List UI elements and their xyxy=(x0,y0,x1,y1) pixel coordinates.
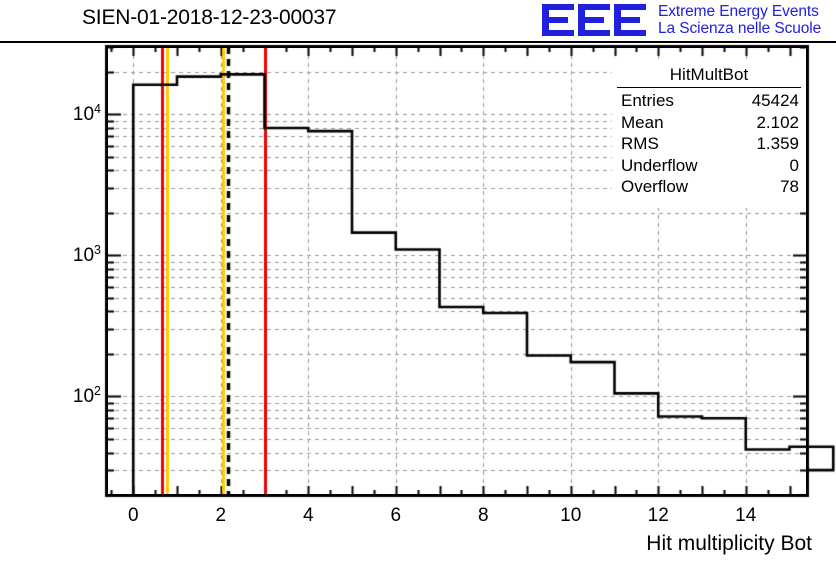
stats-box-title: HitMultBot xyxy=(613,63,805,86)
page-title: SIEN-01-2018-12-23-00037 xyxy=(82,6,336,30)
eee-logo-line2: La Scienza nelle Scuole xyxy=(658,20,821,37)
x-axis-tick-label: 10 xyxy=(560,505,581,527)
x-axis-title: Hit multiplicity Bot xyxy=(646,532,812,556)
x-axis-tick-label: 4 xyxy=(303,505,314,527)
stats-row: Underflow0 xyxy=(613,155,805,177)
stats-row-key: Underflow xyxy=(621,155,698,177)
eee-logo-line1: Extreme Energy Events xyxy=(658,3,821,20)
stats-row-value: 1.359 xyxy=(756,133,799,155)
y-axis-tick-label: 102 xyxy=(73,384,101,408)
x-axis-tick-label: 2 xyxy=(215,505,226,527)
header-divider xyxy=(0,41,836,43)
stats-row-value: 45424 xyxy=(752,90,799,112)
stats-box-rows: Entries45424Mean2.102RMS1.359Underflow0O… xyxy=(613,90,805,198)
stats-row-value: 2.102 xyxy=(756,112,799,134)
x-axis-tick-label: 14 xyxy=(735,505,756,527)
stats-row-key: Mean xyxy=(621,112,664,134)
stats-box: HitMultBot Entries45424Mean2.102RMS1.359… xyxy=(612,62,806,208)
y-axis-tick-label: 104 xyxy=(73,102,101,126)
stats-row-key: Entries xyxy=(621,90,674,112)
stats-row: Mean2.102 xyxy=(613,112,805,134)
x-axis-tick-label: 6 xyxy=(390,505,401,527)
y-axis-tick-label: 103 xyxy=(73,243,101,267)
stats-row: Overflow78 xyxy=(613,176,805,198)
x-axis-tick-label: 8 xyxy=(478,505,489,527)
x-axis-tick-label: 0 xyxy=(128,505,139,527)
eee-logo-mark xyxy=(540,2,650,38)
stats-row-key: Overflow xyxy=(621,176,688,198)
stats-row: Entries45424 xyxy=(613,90,805,112)
eee-logo: Extreme Energy Events La Scienza nelle S… xyxy=(540,2,836,42)
stats-box-divider xyxy=(617,87,801,88)
stats-row-value: 78 xyxy=(780,176,799,198)
stats-row: RMS1.359 xyxy=(613,133,805,155)
x-axis-tick-label: 12 xyxy=(648,505,669,527)
stats-row-value: 0 xyxy=(790,155,799,177)
stats-row-key: RMS xyxy=(621,133,659,155)
eee-logo-text: Extreme Energy Events La Scienza nelle S… xyxy=(658,3,821,37)
